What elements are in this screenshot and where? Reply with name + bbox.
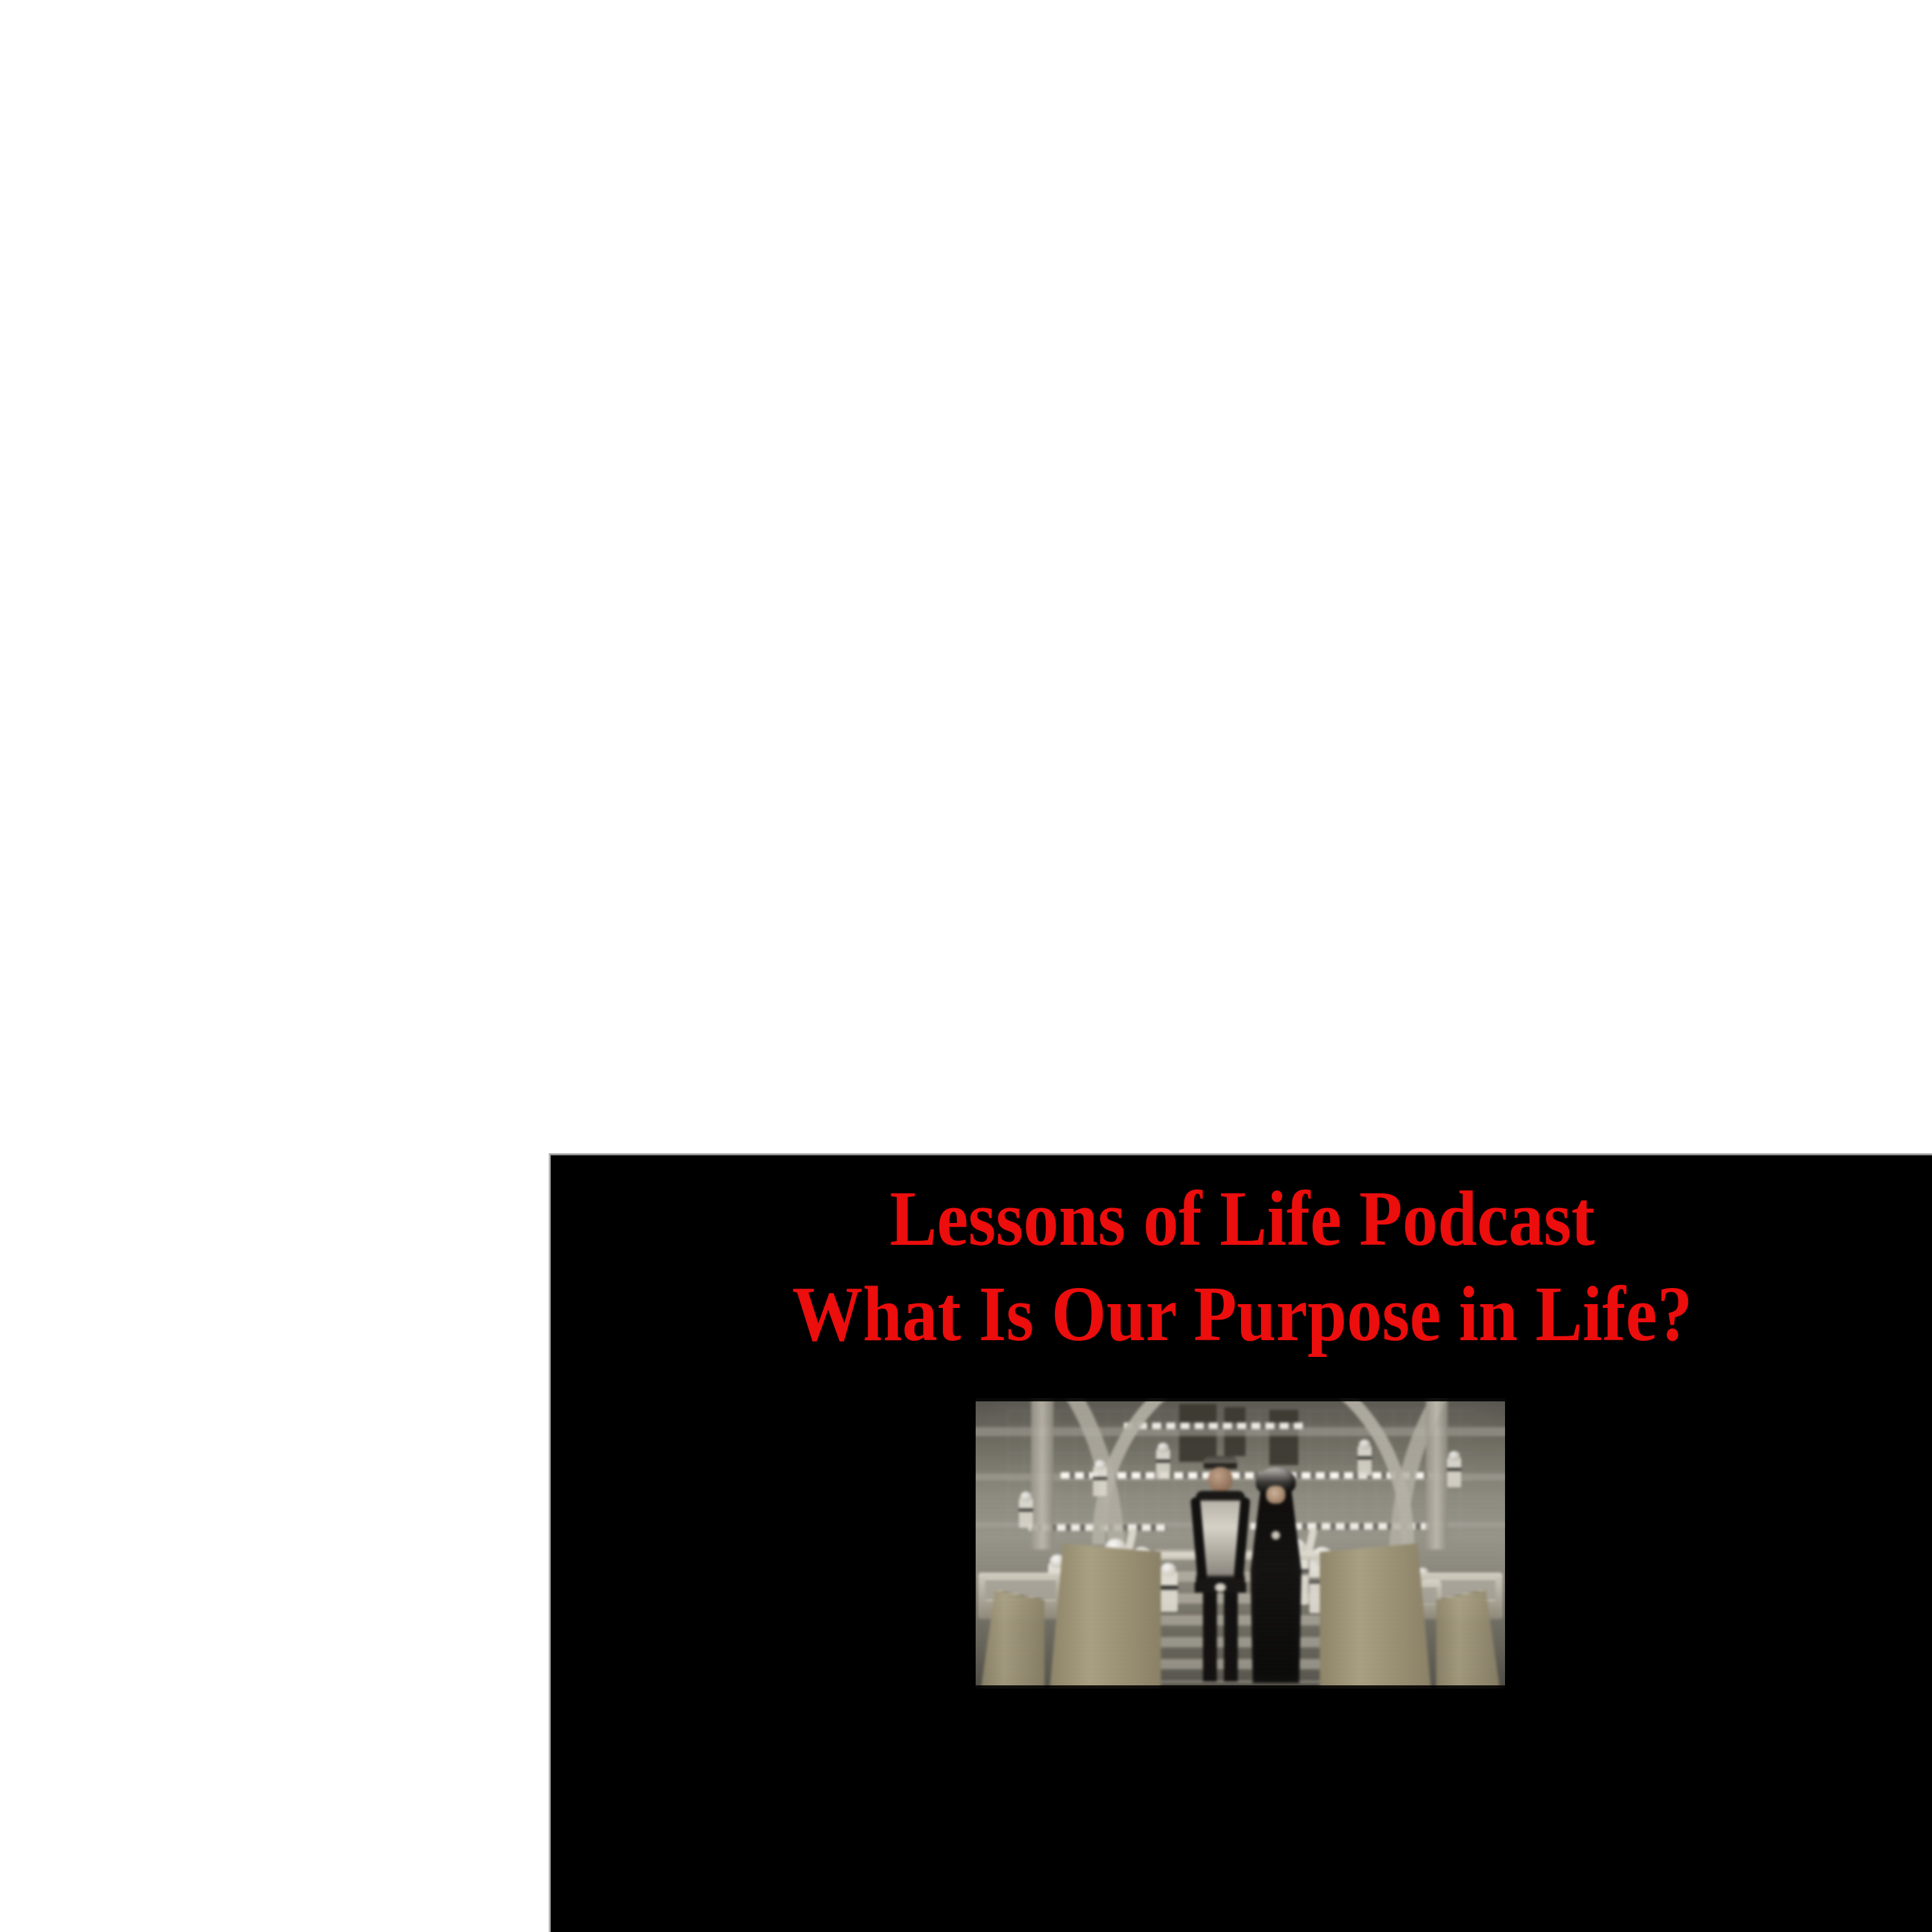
slide-panel: Lessons of Life Podcast What Is Our Purp… (549, 1153, 1932, 1932)
trooper-figure (1019, 1498, 1033, 1528)
officer-legs (1203, 1593, 1238, 1681)
officer-head (1208, 1467, 1233, 1493)
trooper-figure-balcony (1447, 1457, 1461, 1488)
villain-medallion (1271, 1531, 1280, 1540)
trooper-figure-balcony (1358, 1445, 1372, 1475)
title-line-episode-question: What Is Our Purpose in Life? (620, 1275, 1864, 1354)
vertical-pillar (1426, 1398, 1448, 1549)
still-letterbox-bar (976, 1685, 1505, 1689)
trooper-figure-balcony (1156, 1448, 1170, 1479)
title-block: Lessons of Life Podcast What Is Our Purp… (551, 1170, 1932, 1354)
villain-black-cloak (1248, 1490, 1303, 1683)
movie-still-image (976, 1398, 1505, 1689)
villain-face (1266, 1486, 1285, 1504)
black-helmet-cloaked-figure (1248, 1468, 1303, 1671)
spaceship-bridge-scene (976, 1398, 1505, 1689)
foreground-lectern (1050, 1544, 1161, 1689)
foreground-lectern (1320, 1544, 1431, 1689)
title-line-podcast-name: Lessons of Life Podcast (620, 1180, 1864, 1258)
officer-belt-buckle (1215, 1583, 1226, 1592)
still-letterbox-bar (976, 1398, 1505, 1401)
trooper-figure-balcony (1093, 1466, 1107, 1496)
vertical-pillar (1031, 1398, 1054, 1549)
silver-uniform-officer (1195, 1456, 1245, 1671)
